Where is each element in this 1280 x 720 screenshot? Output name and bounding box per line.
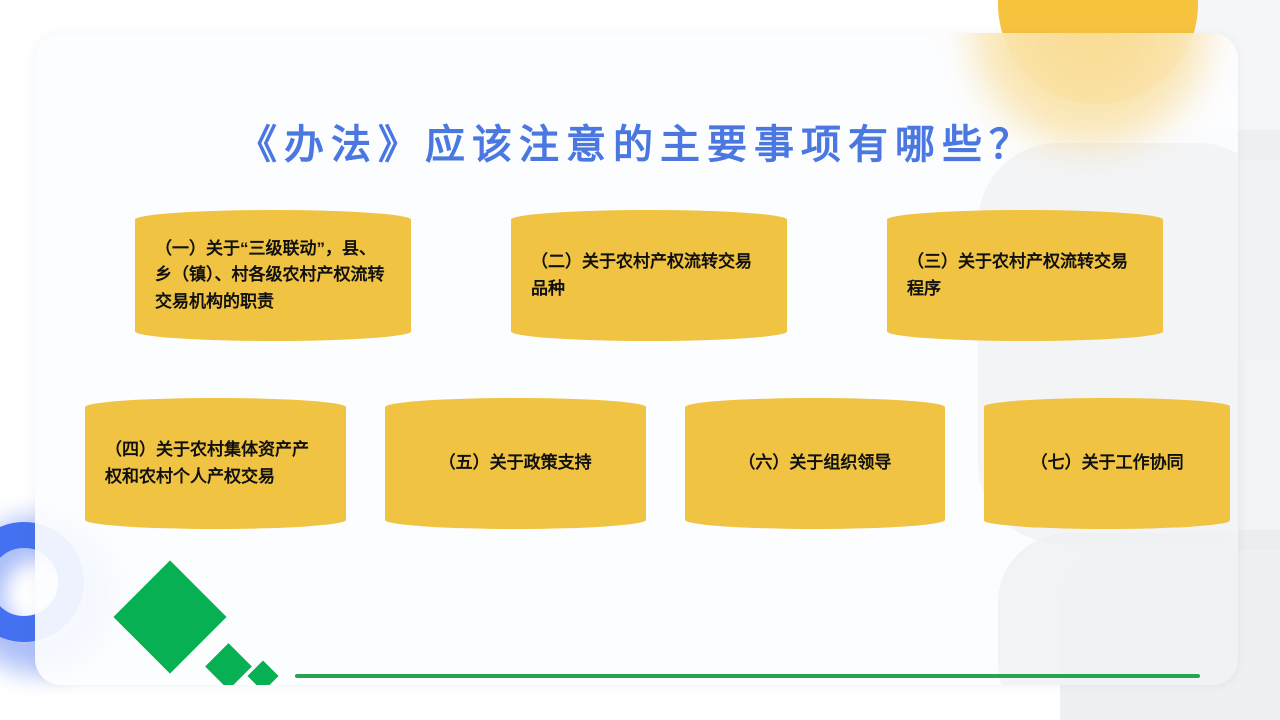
topic-pill-4-label: （四）关于农村集体资产产权和农村个人产权交易 xyxy=(105,437,326,490)
pill-row-2: （四）关于农村集体资产产权和农村个人产权交易 （五）关于政策支持 （六）关于组织… xyxy=(85,398,1230,529)
slide-canvas: 《办法》应该注意的主要事项有哪些？ （一）关于“三级联动”，县、乡（镇）、村各级… xyxy=(0,0,1280,720)
topic-pill-1-label: （一）关于“三级联动”，县、乡（镇）、村各级农村产权流转交易机构的职责 xyxy=(155,236,391,315)
topic-pill-6-label: （六）关于组织领导 xyxy=(705,450,926,476)
diamond-large-icon xyxy=(113,560,226,673)
pill-row-1: （一）关于“三级联动”，县、乡（镇）、村各级农村产权流转交易机构的职责 （二）关… xyxy=(135,210,1185,341)
slide-title: 《办法》应该注意的主要事项有哪些？ xyxy=(35,112,1238,170)
horizontal-rule xyxy=(295,674,1200,678)
topic-pill-3-label: （三）关于农村产权流转交易程序 xyxy=(907,249,1143,302)
topic-pill-6[interactable]: （六）关于组织领导 xyxy=(685,398,946,529)
topic-pill-4[interactable]: （四）关于农村集体资产产权和农村个人产权交易 xyxy=(85,398,346,529)
topic-pill-5[interactable]: （五）关于政策支持 xyxy=(385,398,646,529)
topic-pill-7-label: （七）关于工作协同 xyxy=(1004,450,1210,476)
diamond-medium-icon xyxy=(205,643,252,685)
topic-pill-2-label: （二）关于农村产权流转交易品种 xyxy=(531,249,767,302)
topic-pill-1[interactable]: （一）关于“三级联动”，县、乡（镇）、村各级农村产权流转交易机构的职责 xyxy=(135,210,411,341)
topic-pill-5-label: （五）关于政策支持 xyxy=(405,450,626,476)
diamond-small-icon xyxy=(247,660,278,685)
topic-pill-3[interactable]: （三）关于农村产权流转交易程序 xyxy=(887,210,1163,341)
card-grey-tint-lower-shape xyxy=(998,533,1238,685)
topic-pill-7[interactable]: （七）关于工作协同 xyxy=(984,398,1230,529)
topic-pill-2[interactable]: （二）关于农村产权流转交易品种 xyxy=(511,210,787,341)
content-card: 《办法》应该注意的主要事项有哪些？ （一）关于“三级联动”，县、乡（镇）、村各级… xyxy=(35,33,1238,685)
